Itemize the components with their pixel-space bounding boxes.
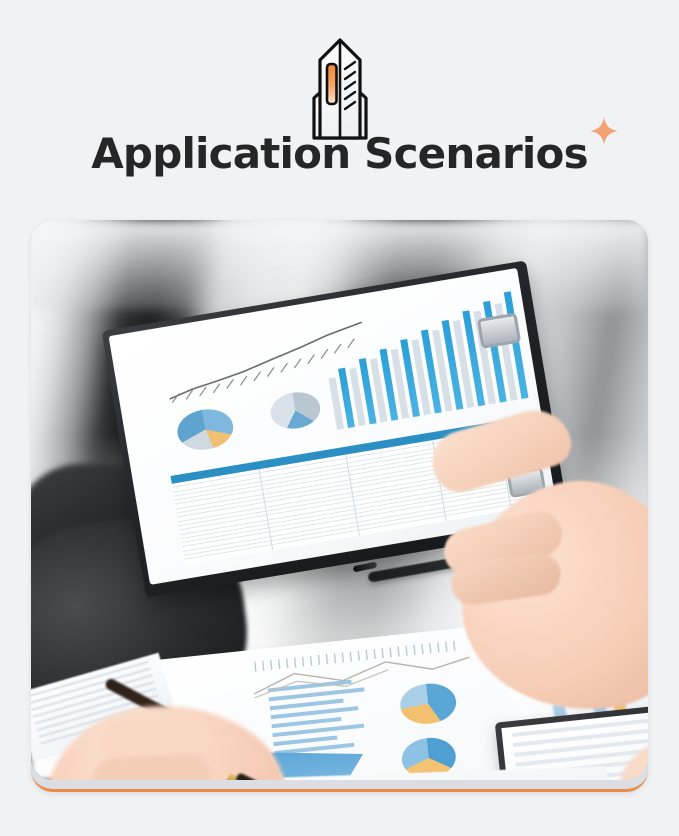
building-icon xyxy=(292,36,388,140)
sparkle-star-icon xyxy=(589,116,619,146)
page-title-row: Application Scenarios xyxy=(0,128,679,180)
hero-card: Document xyxy=(31,220,648,792)
hero-photo xyxy=(31,220,648,780)
page-header: Application Scenarios xyxy=(0,0,679,212)
page-root: Application Scenarios xyxy=(0,0,679,836)
page-title: Application Scenarios xyxy=(91,129,588,178)
